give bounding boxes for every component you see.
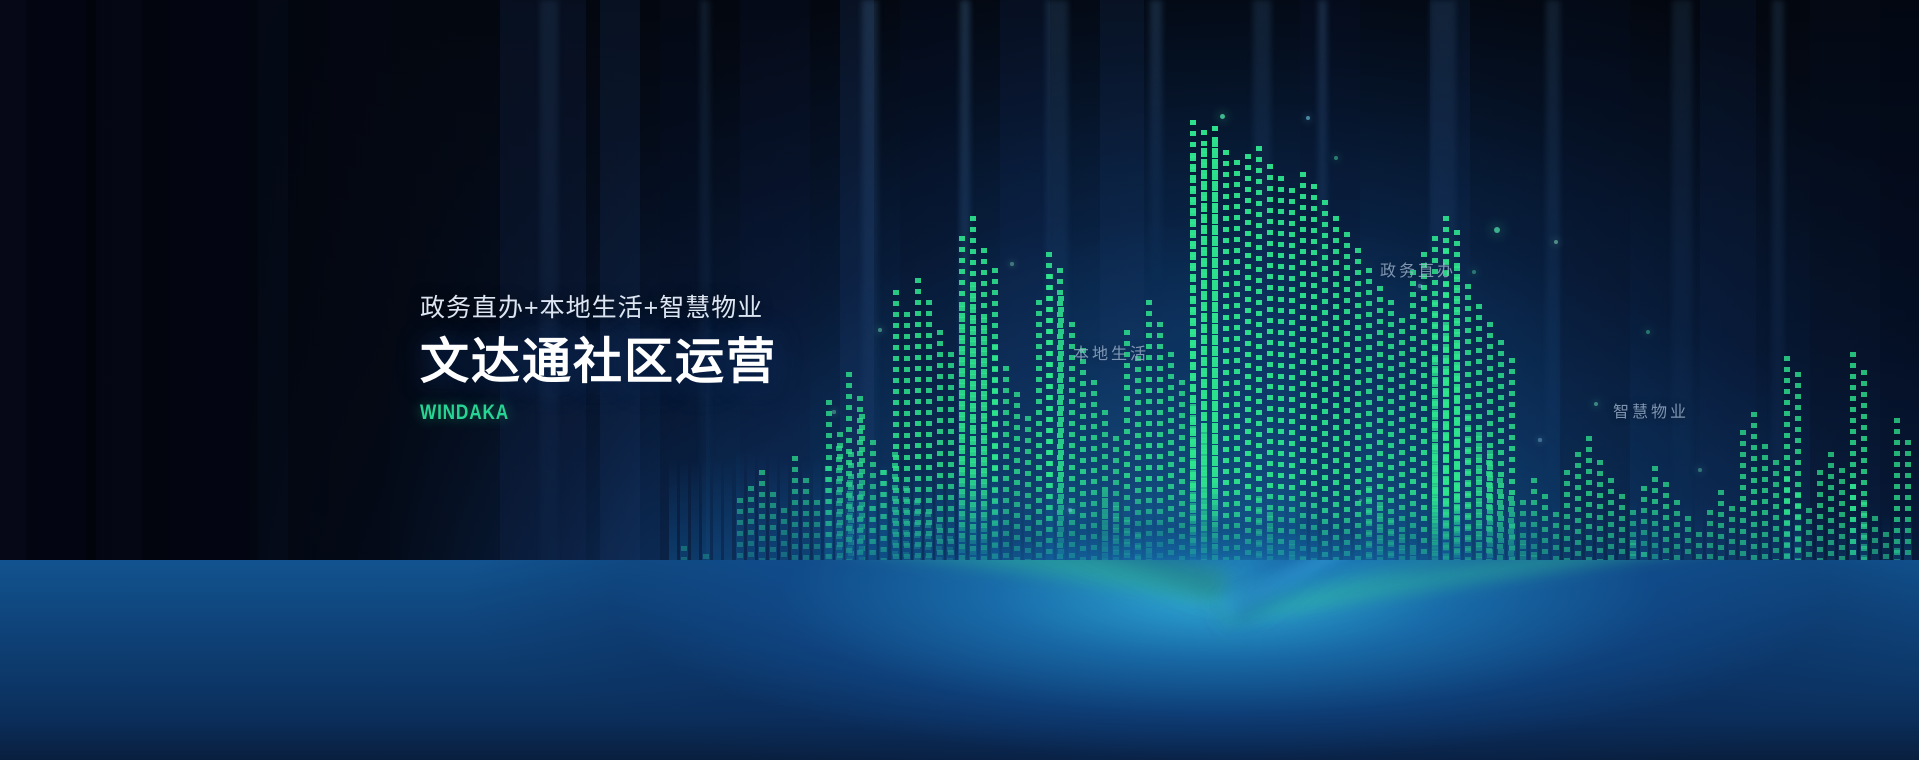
floor-rays: [0, 560, 1919, 760]
sparkle-particle: [1418, 284, 1421, 287]
brand-wordmark: WINDAKA: [420, 402, 713, 423]
banner-subtitle: 政务直办+本地生活+智慧物业: [420, 296, 777, 321]
floating-label: 本地生活: [1073, 340, 1149, 364]
sparkle-particle: [1220, 114, 1225, 119]
sparkle-particle: [1538, 438, 1541, 441]
text-block: 政务直办+本地生活+智慧物业 文达通社区运营 WINDAKA: [420, 296, 777, 423]
perspective-floor: [0, 560, 1919, 760]
sparkle-particle: [832, 410, 835, 413]
sparkle-particle: [1554, 240, 1558, 244]
sparkle-particle: [1010, 262, 1013, 265]
sparkle-particle: [1306, 116, 1310, 120]
sparkle-particle: [1334, 156, 1338, 160]
sparkle-particle: [1359, 499, 1362, 502]
sparkle-particle: [1068, 508, 1071, 511]
sparkle-particle: [1646, 330, 1650, 334]
sparkle-particle: [1472, 270, 1476, 274]
sparkle-particle: [1594, 402, 1598, 406]
floating-label: 智慧物业: [1613, 398, 1689, 422]
sparkle-particle: [1494, 227, 1500, 233]
perspective-ray: [0, 560, 1224, 602]
floating-label: 政务直办: [1380, 257, 1456, 281]
banner-stage: 本地生活政务直办智慧物业 政务直办+本地生活+智慧物业 文达通社区运营 WIND…: [0, 0, 1919, 760]
sparkle-particle: [878, 328, 882, 332]
sparkle-particle: [1698, 468, 1702, 472]
banner-headline: 文达通社区运营: [420, 338, 777, 387]
